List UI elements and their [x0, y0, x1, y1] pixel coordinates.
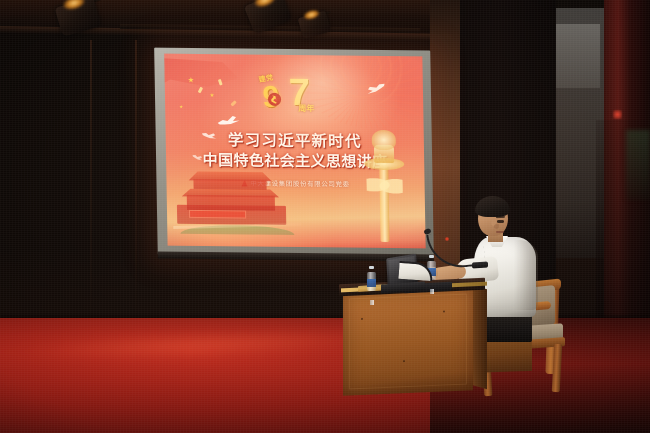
gooseneck-microphone	[428, 232, 484, 272]
tiananmen-gate-graphic	[176, 161, 296, 235]
speaking-podium	[343, 281, 481, 393]
hammer-sickle-icon	[268, 93, 281, 106]
water-bottle	[367, 266, 376, 291]
green-wall-hint	[626, 130, 650, 200]
curtain-seam	[135, 40, 137, 320]
anniversary-emblem: 建党 9 7 周年	[257, 72, 335, 125]
dove-icon	[216, 114, 240, 130]
gold-star-icon	[179, 105, 183, 109]
speaker-hair	[475, 196, 510, 217]
confetti	[231, 100, 237, 106]
confetti	[197, 86, 202, 93]
podium-front-panel	[343, 287, 473, 395]
presentation-slide: 建党 9 7 周年 学习习近平新时代 中国特色社会主义思想讲座 中大建设集团股份…	[164, 54, 425, 249]
screen-frame: 建党 9 7 周年 学习习近平新时代 中国特色社会主义思想讲座 中大建设集团股份…	[154, 48, 434, 258]
curtain-seam	[90, 40, 92, 320]
emblem-zhounian-text: 周年	[298, 103, 314, 114]
lecture-hall-photo: 建党 9 7 周年 学习习近平新时代 中国特色社会主义思想讲座 中大建设集团股份…	[0, 0, 650, 433]
light-wall-panel-upper	[556, 24, 600, 88]
gold-star-icon	[210, 93, 214, 97]
projection-screen: 建党 9 7 周年 学习习近平新时代 中国特色社会主义思想讲座 中大建设集团股份…	[154, 48, 434, 258]
microphone-led-icon	[445, 237, 449, 241]
red-flag-ribbon-graphic	[164, 57, 242, 108]
exit-light-icon	[613, 110, 622, 119]
secondary-microphone	[399, 262, 433, 284]
huabiao-column-graphic	[362, 134, 408, 242]
